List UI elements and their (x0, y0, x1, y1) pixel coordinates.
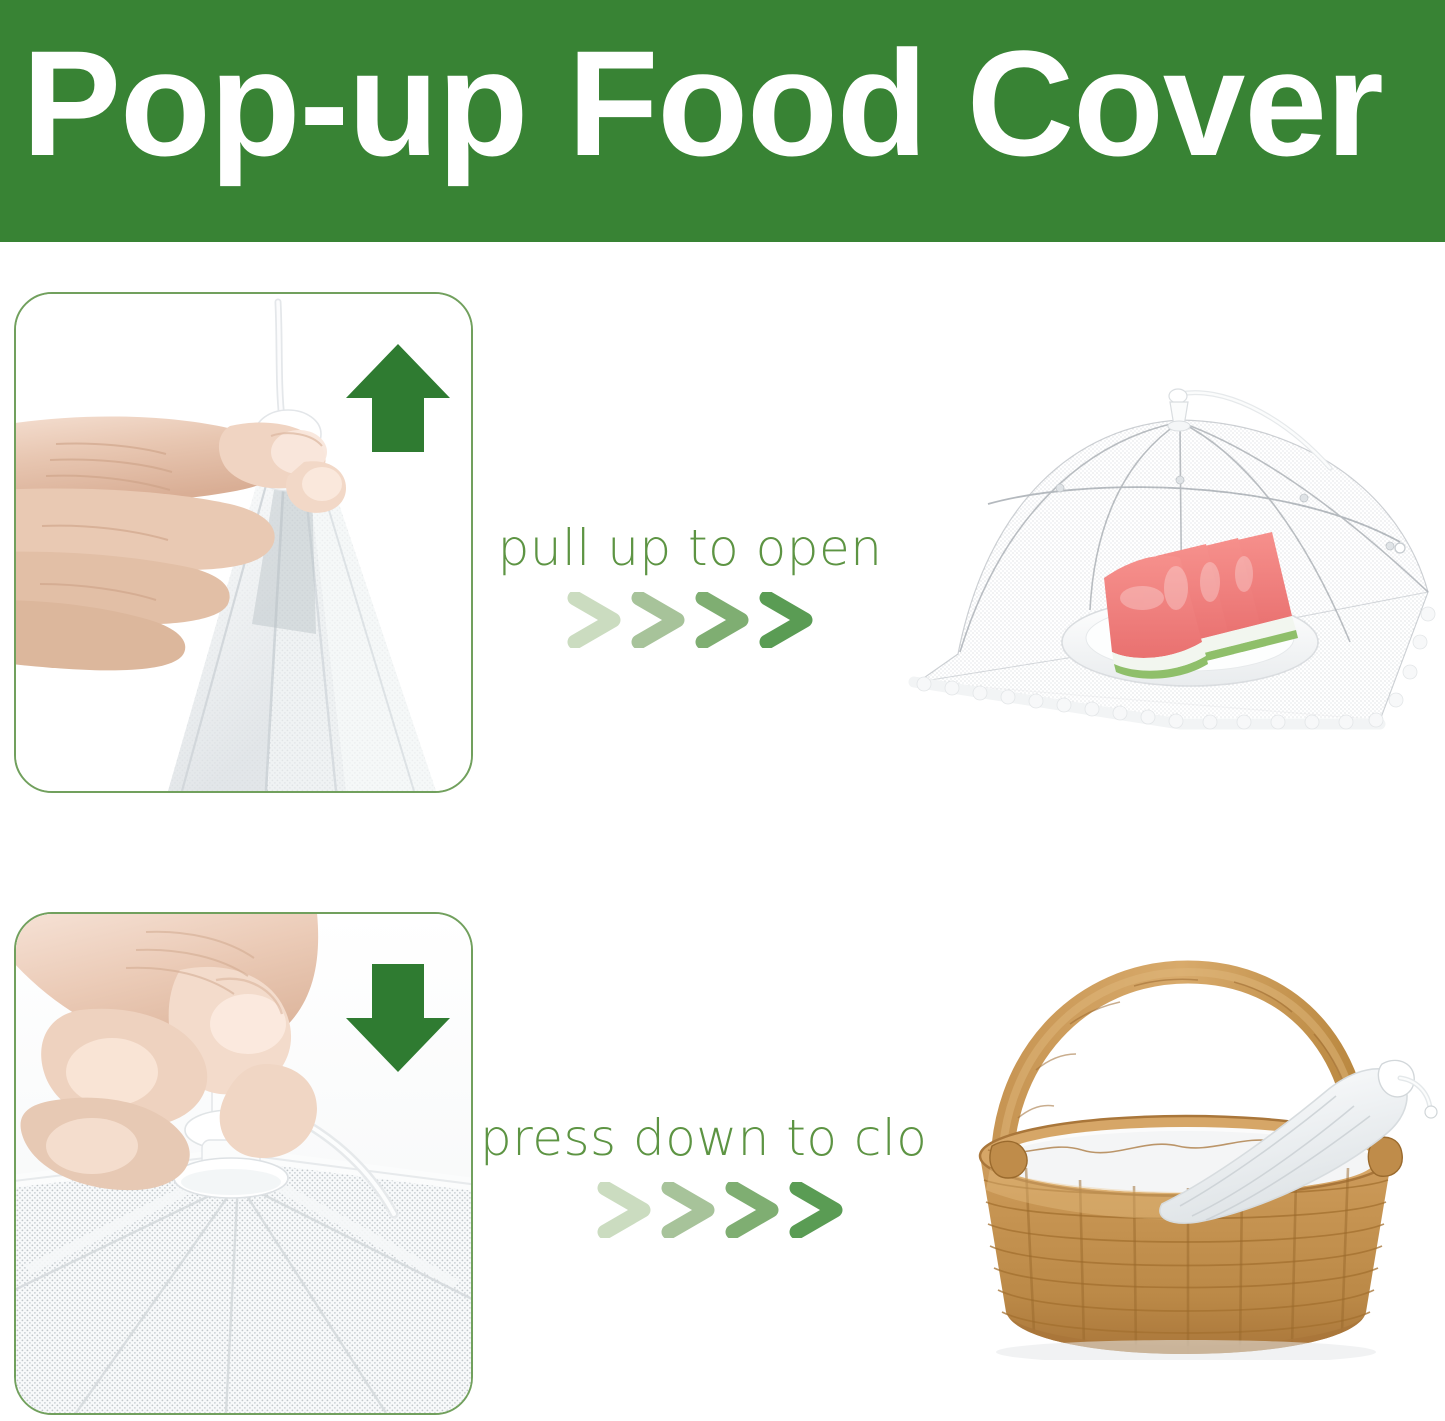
hand-pulling-knob-photo (16, 294, 471, 791)
instruction-close-label: press down to close (480, 1110, 960, 1166)
page-title: Pop-up Food Cover (22, 28, 1420, 178)
header-banner: Pop-up Food Cover (0, 0, 1445, 242)
chevron-right-icon (627, 592, 689, 648)
chevron-row-close (480, 1182, 960, 1238)
step-close-photo-panel (14, 912, 473, 1415)
chevron-right-icon (593, 1182, 655, 1238)
instruction-open-label: pull up to open (480, 520, 900, 576)
basket-with-folded-cover-photo (930, 928, 1440, 1360)
hand-pressing-knob-photo (16, 914, 471, 1413)
open-food-cover-photo (880, 352, 1440, 730)
chevron-right-icon (721, 1182, 783, 1238)
chevron-right-icon (563, 592, 625, 648)
instruction-open: pull up to open (480, 520, 900, 648)
instruction-close: press down to close (480, 1110, 960, 1238)
step-open-photo-panel (14, 292, 473, 793)
chevron-right-icon (785, 1182, 847, 1238)
chevron-right-icon (657, 1182, 719, 1238)
chevron-row-open (480, 592, 900, 648)
chevron-right-icon (755, 592, 817, 648)
chevron-right-icon (691, 592, 753, 648)
